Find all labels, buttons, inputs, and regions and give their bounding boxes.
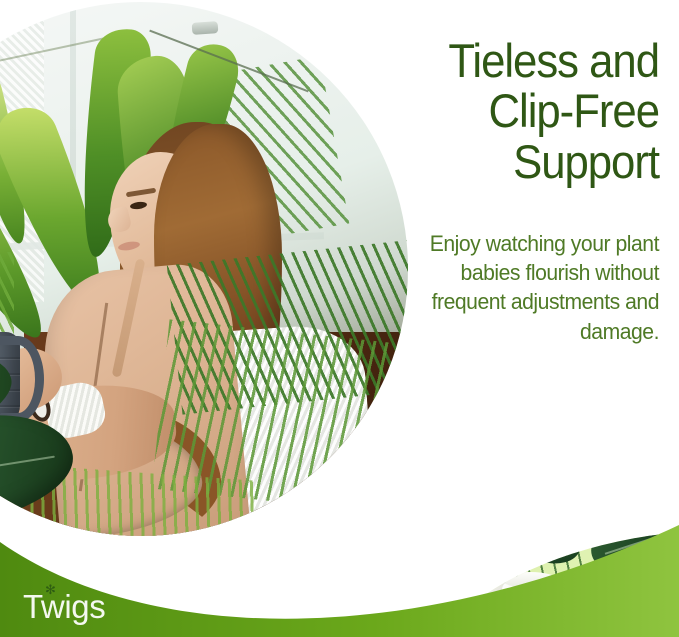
body-copy: Enjoy watching your plant babies flouris… (409, 229, 659, 346)
ad-canvas: Tieless and Clip-Free Support Enjoy watc… (0, 0, 679, 637)
brand-wordmark: Twigs (23, 590, 105, 623)
headline: Tieless and Clip-Free Support (412, 36, 659, 187)
hero-photo-circle (0, 2, 408, 536)
flower-sparkle-icon: ✻ (45, 584, 56, 595)
copy-block: Tieless and Clip-Free Support Enjoy watc… (393, 36, 659, 346)
ceiling-light (192, 21, 219, 35)
